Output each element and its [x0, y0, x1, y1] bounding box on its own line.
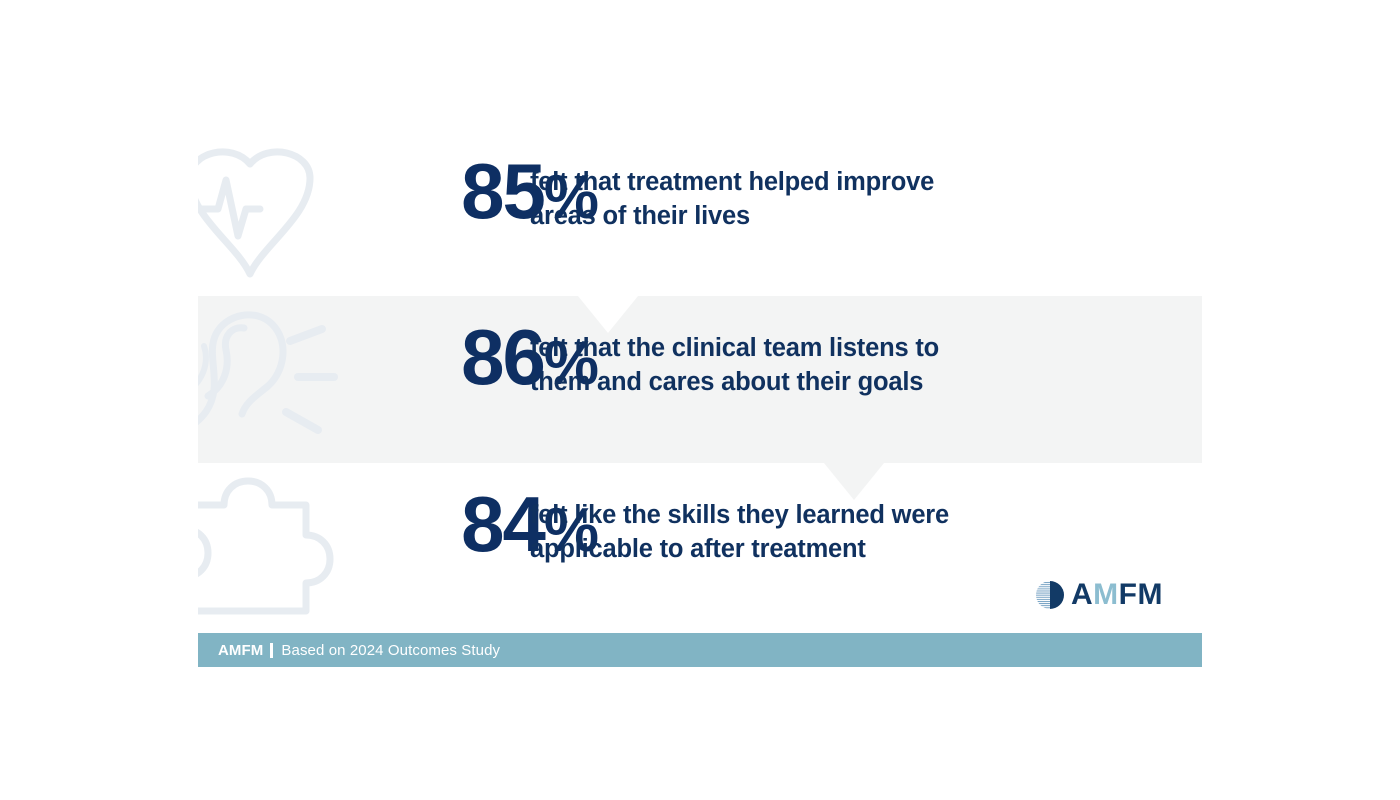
amfm-circle-mark-icon: [1035, 580, 1065, 610]
notch-bottom-triangle-icon: [824, 463, 884, 500]
footer-separator-icon: [270, 643, 273, 658]
stat-description-line1: felt that treatment helped improve: [530, 168, 934, 196]
logo-letter-f: F: [1119, 580, 1138, 610]
logo-letter-m1: M: [1093, 580, 1119, 610]
stat-description-line1: felt that the clinical team listens to: [530, 334, 939, 362]
stat-description: felt that the clinical team listens to t…: [530, 332, 1130, 399]
stat-row: 85% felt that treatment helped improve a…: [198, 130, 1202, 297]
notch-top-triangle-icon: [578, 296, 638, 333]
infographic-canvas: 85% felt that treatment helped improve a…: [0, 0, 1400, 800]
amfm-logo: A M F M: [1035, 578, 1185, 612]
stat-description-line2: areas of their lives: [530, 200, 1130, 234]
source-footer-bar: AMFM Based on 2024 Outcomes Study: [198, 633, 1202, 667]
stat-description: felt that treatment helped improve areas…: [530, 166, 1130, 233]
amfm-wordmark: A M F M: [1071, 580, 1163, 610]
source-footer-text: AMFM Based on 2024 Outcomes Study: [218, 642, 500, 659]
footer-brand: AMFM: [218, 642, 263, 659]
stat-description-line2: them and cares about their goals: [530, 366, 1130, 400]
logo-letter-m2: M: [1138, 580, 1164, 610]
stat-row: 86% felt that the clinical team listens …: [198, 296, 1202, 463]
stat-description-line1: felt like the skills they learned were: [530, 501, 949, 529]
footer-study-label: Based on 2024 Outcomes Study: [281, 642, 500, 659]
stat-description: felt like the skills they learned were a…: [530, 499, 1130, 566]
logo-letter-a1: A: [1071, 580, 1093, 610]
stat-description-line2: applicable to after treatment: [530, 533, 1130, 567]
